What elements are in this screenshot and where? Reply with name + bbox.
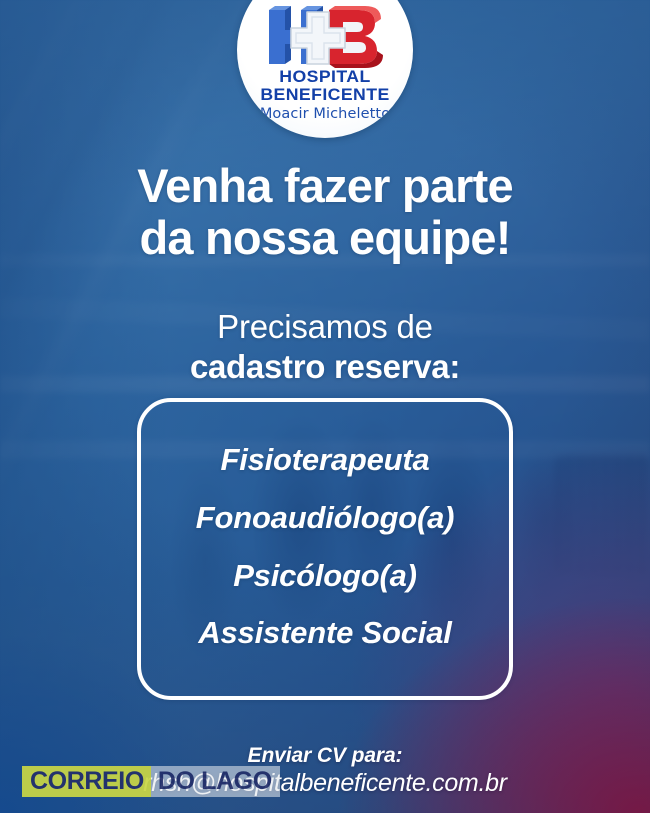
hospital-logo-badge: HOSPITAL BENEFICENTE Moacir Micheletto [237,0,413,138]
subheadline-line-1: Precisamos de [0,308,650,346]
cv-instruction-label: Enviar CV para: [0,744,650,768]
watermark-part-2: DO LAGO [151,766,280,797]
logo-subtitle: Moacir Micheletto [237,106,413,122]
subheadline: Precisamos de cadastro reserva: [0,308,650,386]
poster-content: HOSPITAL BENEFICENTE Moacir Micheletto V… [0,0,650,813]
watermark-part-1: CORREIO [22,766,151,797]
headline: Venha fazer parte da nossa equipe! [0,160,650,264]
subheadline-line-2: cadastro reserva: [0,348,650,386]
logo-line-1: HOSPITAL [237,68,413,85]
list-item: Psicólogo(a) [233,560,417,593]
list-item: Fisioterapeuta [220,444,429,477]
headline-line-1: Venha fazer parte [0,160,650,212]
hb-monogram-with-cross-icon [255,6,395,68]
list-item: Fonoaudiólogo(a) [196,502,455,535]
job-vacancy-poster: HOSPITAL BENEFICENTE Moacir Micheletto V… [0,0,650,813]
list-item: Assistente Social [198,617,451,650]
headline-line-2: da nossa equipe! [0,212,650,264]
logo-line-2: BENEFICENTE [237,86,413,103]
job-roles-box: Fisioterapeuta Fonoaudiólogo(a) Psicólog… [137,398,513,700]
correio-do-lago-watermark: CORREIO DO LAGO [22,766,280,797]
hospital-logo-text: HOSPITAL BENEFICENTE Moacir Micheletto [237,68,413,122]
